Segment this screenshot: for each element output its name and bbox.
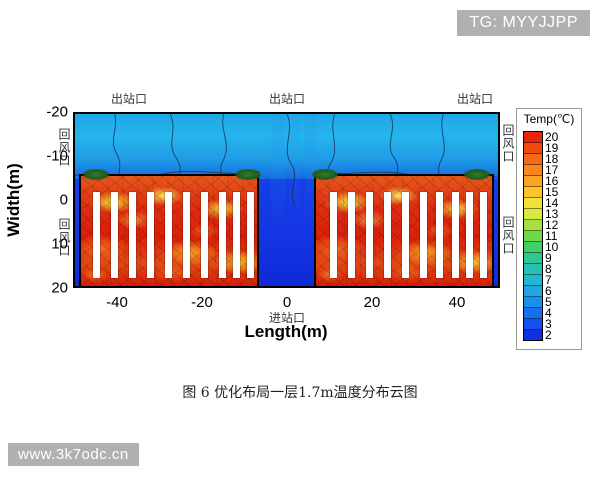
equipment-rack [93, 192, 100, 278]
colorbar-band [524, 319, 542, 330]
y-axis-title: Width(m) [4, 163, 24, 237]
equipment-block-right [314, 174, 494, 288]
equipment-rack [366, 192, 373, 278]
equipment-rack [330, 192, 337, 278]
colorbar-band [524, 330, 542, 340]
y-tick-label: 10 [36, 236, 68, 253]
annotation-exit-right: 出站口 [457, 90, 493, 107]
equipment-rack [111, 192, 118, 278]
colorbar-band [524, 264, 542, 275]
vent-blob [312, 169, 338, 180]
colorbar-tick-label: 2 [545, 328, 577, 342]
annotation-return-vent-right-top: 回风口 [502, 124, 514, 163]
watermark-bottom-left: www.3k7odc.cn [8, 443, 139, 466]
equipment-rack [384, 192, 391, 278]
colorbar-band [524, 231, 542, 242]
x-tick-label: 40 [449, 294, 466, 311]
colorbar-band [524, 154, 542, 165]
colorbar-band [524, 297, 542, 308]
watermark-top-right: TG: MYYJJPP [457, 10, 590, 36]
y-tick-label: 20 [36, 280, 68, 297]
colorbar-band [524, 187, 542, 198]
colorbar-band [524, 198, 542, 209]
colorbar-gradient-strip [523, 131, 543, 341]
colorbar-legend: Temp(℃) 201918171615141312111098765432 [516, 108, 582, 350]
equipment-rack [466, 192, 473, 278]
y-tick-label: -20 [36, 104, 68, 121]
equipment-rack [165, 192, 172, 278]
vent-blob [235, 169, 261, 180]
equipment-rack [452, 192, 459, 278]
x-axis-title: Length(m) [244, 322, 327, 342]
y-tick-label: -10 [36, 148, 68, 165]
annotation-exit-center: 出站口 [269, 90, 305, 107]
equipment-rack [233, 192, 240, 278]
colorbar-band [524, 209, 542, 220]
colorbar-band [524, 132, 542, 143]
contour-plot-area [73, 112, 500, 288]
vent-blob [464, 169, 490, 180]
x-tick-label: 20 [364, 294, 381, 311]
equipment-rack [480, 192, 487, 278]
colorbar-title: Temp(℃) [517, 112, 581, 126]
y-tick-label: 0 [36, 192, 68, 209]
x-tick-label: -40 [106, 294, 128, 311]
vent-blob [83, 169, 109, 180]
equipment-rack [147, 192, 154, 278]
equipment-rack [402, 192, 409, 278]
colorbar-band [524, 253, 542, 264]
equipment-rack [201, 192, 208, 278]
colorbar-band [524, 286, 542, 297]
equipment-rack [129, 192, 136, 278]
figure-caption: 图 6 优化布局一层1.7m温度分布云图 [182, 382, 417, 402]
figure-container: TG: MYYJJPP www.3k7odc.cn 出站口 出站口 出站口 回风… [0, 0, 600, 480]
equipment-block-left [79, 174, 259, 288]
equipment-rack [219, 192, 226, 278]
cold-upper-band [75, 114, 498, 179]
equipment-rack [436, 192, 443, 278]
colorbar-band [524, 275, 542, 286]
colorbar-band [524, 143, 542, 154]
colorbar-band [524, 242, 542, 253]
equipment-rack [247, 192, 254, 278]
x-tick-label: -20 [191, 294, 213, 311]
colorbar-band [524, 308, 542, 319]
colorbar-tick-labels: 201918171615141312111098765432 [545, 125, 579, 347]
colorbar-band [524, 165, 542, 176]
colorbar-band [524, 220, 542, 231]
annotation-return-vent-right-bottom: 回风口 [502, 216, 514, 255]
annotation-exit-left: 出站口 [111, 90, 147, 107]
equipment-rack [348, 192, 355, 278]
equipment-rack [420, 192, 427, 278]
equipment-rack [183, 192, 190, 278]
colorbar-band [524, 176, 542, 187]
